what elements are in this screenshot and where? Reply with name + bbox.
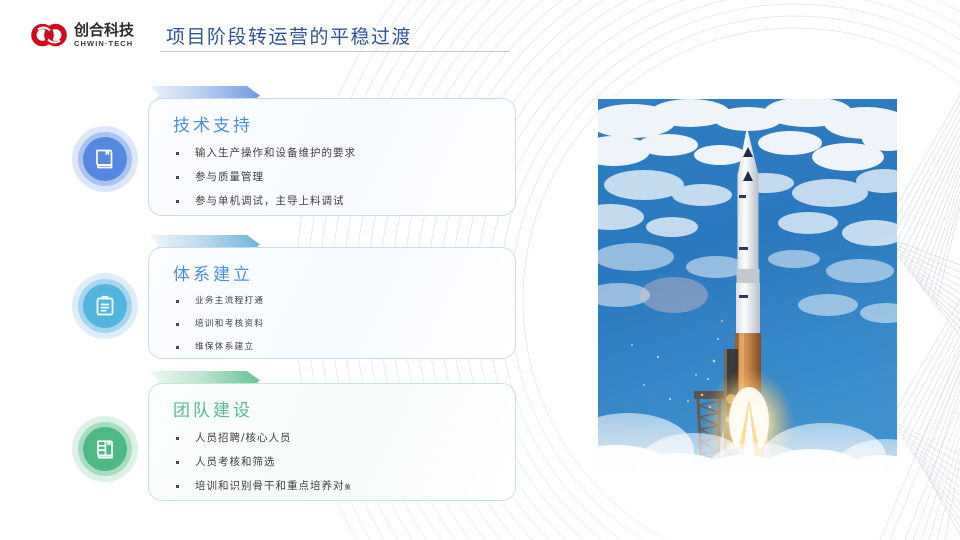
bullet-text: 培训和考核资料 [195,319,264,329]
bullet-text: 人员招聘/核心人员 [195,432,292,444]
sections-column: 技术支持 输入生产操作和设备维护的要求 参与质量管理 参与单机调试，主导上料调试 [0,0,540,540]
slide-canvas: 创合科技 CHWIN·TECH 项目阶段转运营的平稳过渡 [0,0,960,540]
title-divider [160,51,510,52]
book-icon [83,137,127,181]
brand-wordmark: 创合科技 CHWIN·TECH [74,23,134,48]
list-item: 培训和识别骨干和重点培养对象 [173,474,503,499]
section-bullet-list: 人员招聘/核心人员 人员考核和筛选 培训和识别骨干和重点培养对象 [173,426,503,499]
section-title: 体系建立 [173,260,253,285]
bullet-text: 培训和识别骨干和重点培养对 [195,480,345,492]
list-item: 业务主流程打通 [173,290,503,313]
chwin-tech-logo-mark-icon [30,20,68,50]
bullet-text: 参与单机调试，主导上料调试 [195,195,345,207]
brand-name-en: CHWIN·TECH [74,40,133,48]
section-bullet-list: 输入生产操作和设备维护的要求 参与质量管理 参与单机调试，主导上料调试 [173,141,503,213]
list-item: 培训和考核资料 [173,313,503,336]
section-badge-system-establishment[interactable] [72,273,138,339]
ledger-book-icon [83,427,127,471]
clipboard-icon [83,284,127,328]
page-title: 项目阶段转运营的平稳过渡 [166,22,412,49]
list-item: 人员招聘/核心人员 [173,426,503,450]
bullet-text: 参与质量管理 [195,171,264,183]
section-title: 技术支持 [173,111,253,136]
bullet-text: 输入生产操作和设备维护的要求 [195,147,356,159]
list-item: 输入生产操作和设备维护的要求 [173,141,503,165]
list-item: 参与单机调试，主导上料调试 [173,189,503,213]
rocket-launch-photo [598,99,897,479]
section-card-technical-support: 技术支持 输入生产操作和设备维护的要求 参与质量管理 参与单机调试，主导上料调试 [148,98,516,216]
section-card-team-building: 团队建设 人员招聘/核心人员 人员考核和筛选 培训和识别骨干和重点培养对象 [148,383,516,501]
bullet-text: 人员考核和筛选 [195,456,276,468]
section-title: 团队建设 [173,396,253,421]
slide-header: 创合科技 CHWIN·TECH 项目阶段转运营的平稳过渡 [0,0,540,70]
bullet-text: 维保体系建立 [195,342,254,352]
section-bullet-list: 业务主流程打通 培训和考核资料 维保体系建立 [173,290,503,359]
list-item: 人员考核和筛选 [173,450,503,474]
brand-name-cn: 创合科技 [74,23,134,38]
bullet-text-tail: 象 [345,483,353,491]
bullet-text: 业务主流程打通 [195,296,264,306]
list-item: 维保体系建立 [173,336,503,359]
brand-logo: 创合科技 CHWIN·TECH [30,20,134,50]
section-card-system-establishment: 体系建立 业务主流程打通 培训和考核资料 维保体系建立 [148,247,516,359]
section-badge-technical-support[interactable] [72,126,138,192]
section-badge-team-building[interactable] [72,416,138,482]
list-item: 参与质量管理 [173,165,503,189]
